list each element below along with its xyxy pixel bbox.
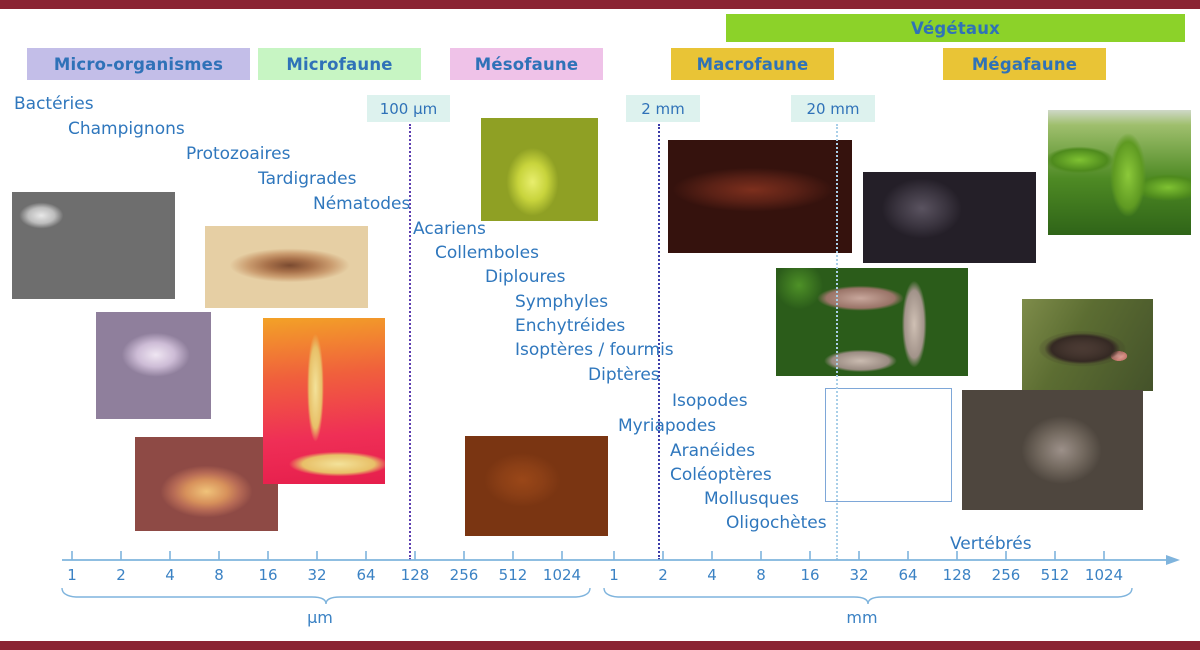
- axis-tick-label-mm-512: 512: [1041, 566, 1070, 584]
- threshold-label: 100 µm: [380, 100, 438, 118]
- threshold-guide-100-m: [409, 124, 411, 560]
- category-label: Végétaux: [911, 19, 1000, 38]
- organism-label-protozoaires: Protozoaires: [186, 146, 290, 163]
- category-label: Mégafaune: [972, 55, 1077, 74]
- organism-label-coleopteres: Coléoptères: [670, 467, 772, 484]
- axis-tick-label-µm-4: 4: [165, 566, 175, 584]
- axis-tick-label-mm-16: 16: [800, 566, 819, 584]
- category-banner-macrofaune[interactable]: Macrofaune: [671, 48, 834, 80]
- organism-label-tardigrades: Tardigrades: [258, 171, 357, 188]
- tardigrade-photo: [135, 437, 278, 531]
- beetle-grub-photo: [825, 388, 952, 502]
- vole-photo: [962, 390, 1143, 510]
- springtail-photo: [481, 118, 598, 221]
- protozoan-photo: [205, 226, 368, 308]
- organism-label-acariens: Acariens: [413, 221, 486, 238]
- category-label: Macrofaune: [697, 55, 809, 74]
- axis-tick-label-mm-2: 2: [658, 566, 668, 584]
- organism-label-symphyles: Symphyles: [515, 294, 608, 311]
- axis-unit-label-mm: mm: [846, 608, 877, 627]
- axis-tick-label-µm-32: 32: [307, 566, 326, 584]
- axis-tick-label-µm-1024: 1024: [543, 566, 581, 584]
- threshold-chip-100-m: 100 µm: [367, 95, 450, 122]
- mite-photo: [465, 436, 608, 536]
- nematode-photo: [263, 318, 385, 484]
- organism-label-oligochetes: Oligochètes: [726, 515, 827, 532]
- axis-tick-label-mm-64: 64: [898, 566, 917, 584]
- bottom-border-rule: [0, 641, 1200, 650]
- axis-tick-label-mm-128: 128: [943, 566, 972, 584]
- threshold-guide-20-mm: [836, 124, 838, 560]
- plant-photo: [1048, 110, 1191, 235]
- axis-tick-label-µm-128: 128: [401, 566, 430, 584]
- axis-tick-label-mm-1: 1: [609, 566, 619, 584]
- category-banner-mesofaune[interactable]: Mésofaune: [450, 48, 603, 80]
- category-label: Microfaune: [286, 55, 392, 74]
- axis-arrow-head: [1166, 555, 1180, 565]
- organism-label-myriapodes: Myriapodes: [618, 418, 716, 435]
- mushroom-photo: [96, 312, 211, 419]
- axis-tick-label-mm-1024: 1024: [1085, 566, 1123, 584]
- millipede-photo: [668, 140, 852, 253]
- snail-photo: [863, 172, 1036, 263]
- earthworm-photo: [776, 268, 968, 376]
- organism-label-mollusques: Mollusques: [704, 491, 799, 508]
- category-banner-megafaune[interactable]: Mégafaune: [943, 48, 1106, 80]
- bacteria-sem-photo: [12, 192, 175, 299]
- organism-label-isopodes: Isopodes: [672, 393, 748, 410]
- axis-tick-label-mm-8: 8: [756, 566, 766, 584]
- mole-photo: [1022, 299, 1153, 391]
- organism-label-diploures: Diploures: [485, 269, 565, 286]
- threshold-label: 20 mm: [806, 100, 859, 118]
- category-banner-microfaune[interactable]: Microfaune: [258, 48, 421, 80]
- threshold-chip-2-mm: 2 mm: [626, 95, 700, 122]
- axis-tick-label-µm-1: 1: [67, 566, 77, 584]
- category-banner-vegetaux[interactable]: Végétaux: [726, 14, 1185, 42]
- diagram-canvas: Micro-organismesMicrofauneMésofauneMacro…: [0, 0, 1200, 650]
- threshold-chip-20-mm: 20 mm: [791, 95, 875, 122]
- top-border-rule: [0, 0, 1200, 9]
- organism-label-enchytreides: Enchytréides: [515, 318, 625, 335]
- organism-label-araneides: Aranéides: [670, 443, 755, 460]
- axis-tick-label-µm-8: 8: [214, 566, 224, 584]
- organism-label-dipteres: Diptères: [588, 367, 660, 384]
- axis-tick-label-µm-64: 64: [356, 566, 375, 584]
- axis-tick-label-mm-4: 4: [707, 566, 717, 584]
- axis-tick-label-mm-32: 32: [849, 566, 868, 584]
- organism-label-bacteries: Bactéries: [14, 96, 94, 113]
- threshold-label: 2 mm: [641, 100, 685, 118]
- axis-tick-label-µm-16: 16: [258, 566, 277, 584]
- organism-label-collemboles: Collemboles: [435, 245, 539, 262]
- category-label: Mésofaune: [475, 55, 579, 74]
- axis-tick-label-mm-256: 256: [992, 566, 1021, 584]
- organism-label-vertebres: Vertébrés: [950, 536, 1032, 553]
- axis-tick-label-µm-256: 256: [450, 566, 479, 584]
- axis-unit-label-µm: µm: [307, 608, 333, 627]
- axis-tick-label-µm-512: 512: [499, 566, 528, 584]
- organism-label-champignons: Champignons: [68, 121, 185, 138]
- axis-brace-µm: [62, 588, 590, 604]
- axis-tick-label-µm-2: 2: [116, 566, 126, 584]
- category-label: Micro-organismes: [54, 55, 223, 74]
- organism-label-nematodes: Nématodes: [313, 196, 410, 213]
- category-banner-micro-organismes[interactable]: Micro-organismes: [27, 48, 250, 80]
- organism-label-isopteres-fourmis: Isoptères / fourmis: [515, 342, 674, 359]
- axis-brace-mm: [604, 588, 1132, 604]
